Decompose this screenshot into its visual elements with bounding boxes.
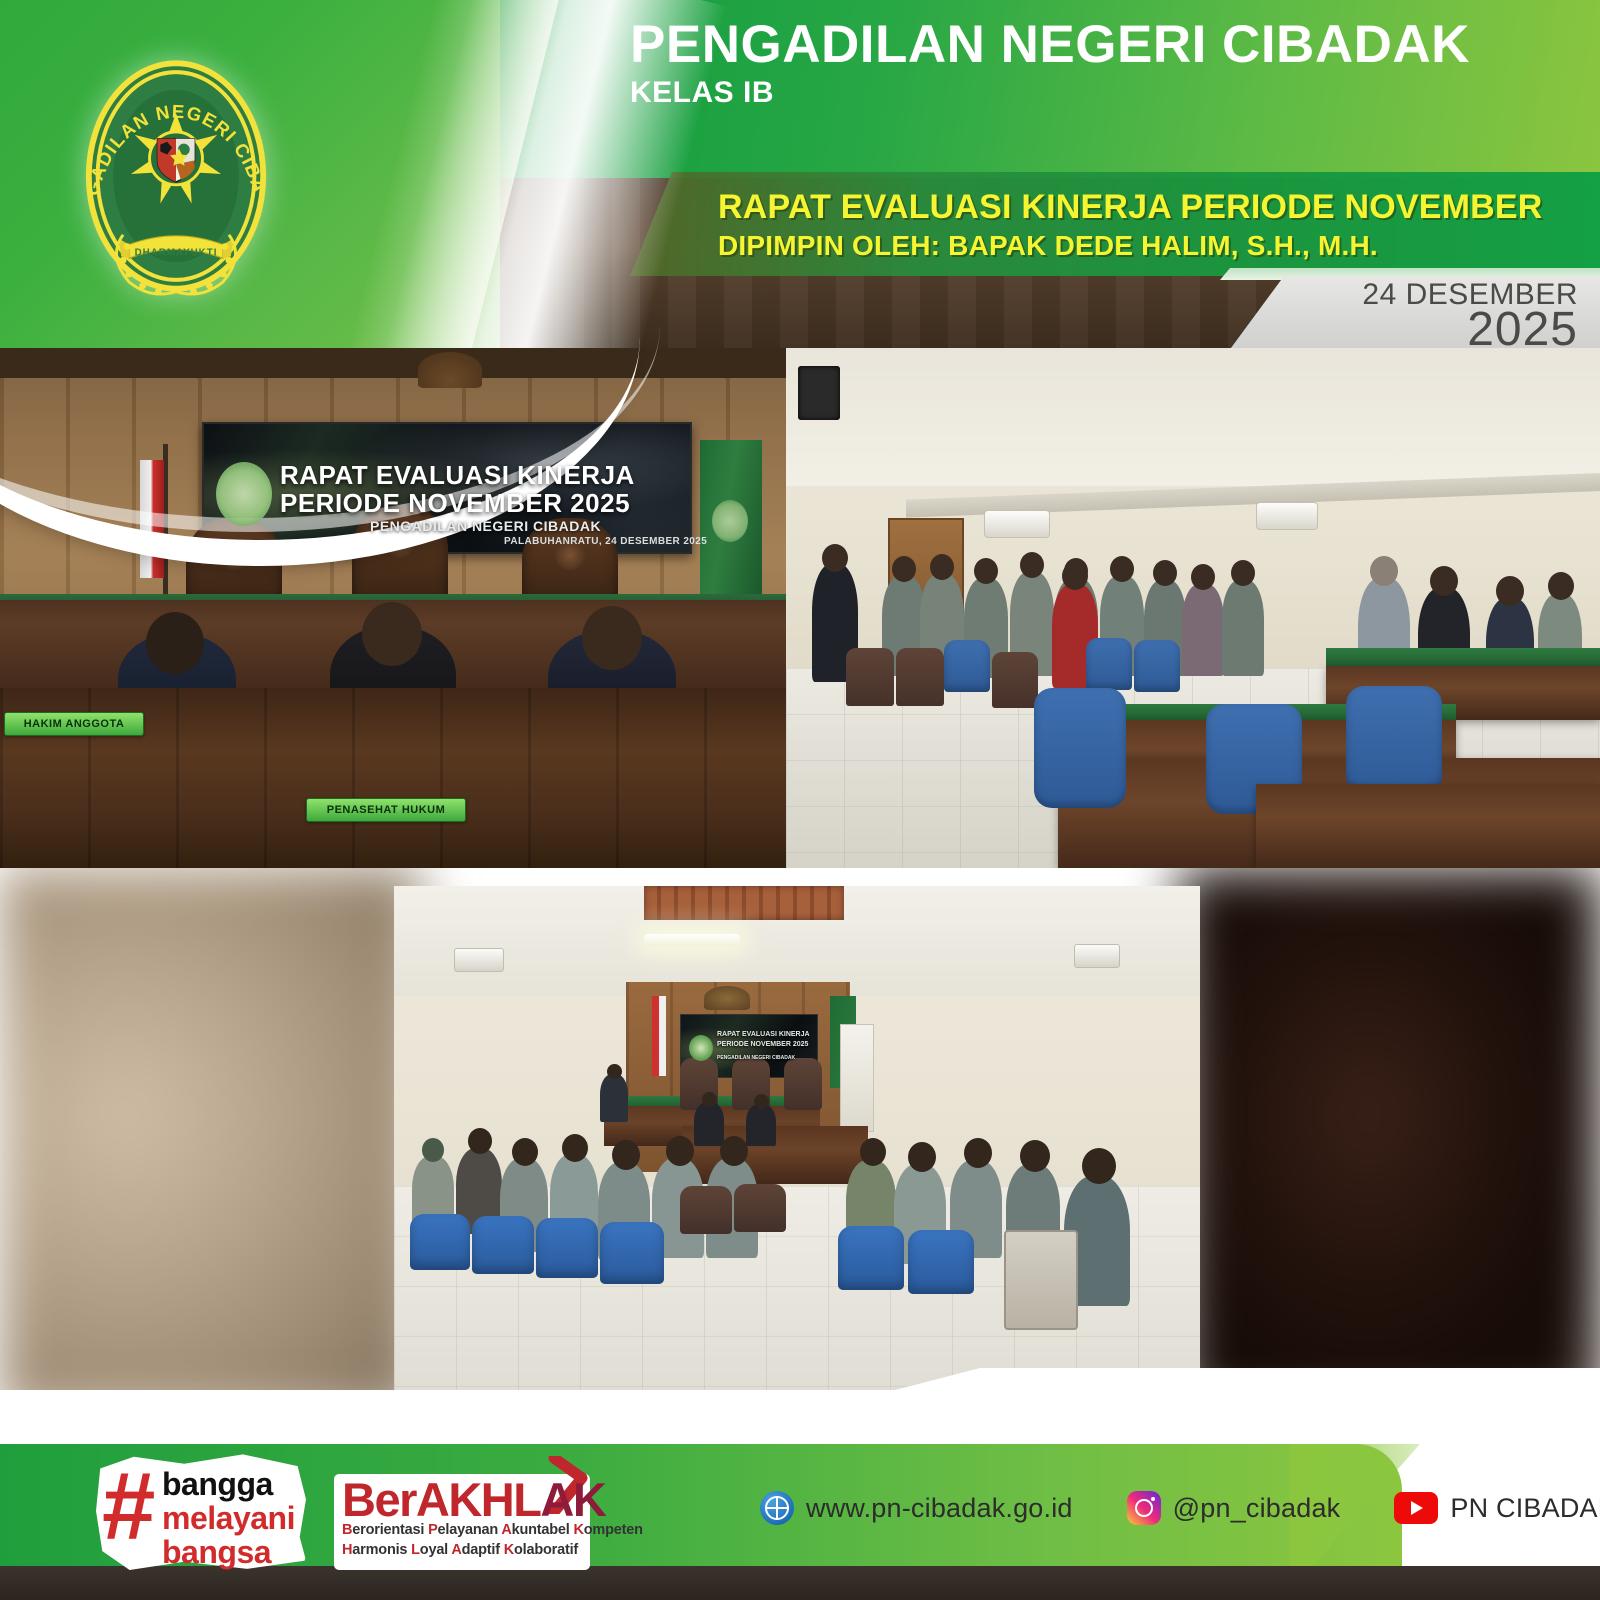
right-photo-ceiling — [786, 348, 1600, 486]
desk-green-felt — [1326, 648, 1600, 668]
contact-instagram[interactable]: @pn_cibadak — [1127, 1491, 1341, 1525]
youtube-icon — [1394, 1492, 1438, 1524]
folding-chair — [1004, 1230, 1078, 1330]
person-head — [1082, 1148, 1116, 1184]
person-head — [1370, 556, 1398, 586]
contact-row: www.pn-cibadak.go.id @pn_cibadak PN CIBA… — [760, 1484, 1600, 1532]
screen-emblem-icon — [216, 462, 272, 526]
indonesia-flag — [652, 996, 666, 1076]
person-head — [974, 558, 998, 584]
person-head — [146, 612, 204, 674]
berakhlak-title-part1: BerAKHL — [342, 1473, 540, 1526]
person-standing — [1222, 580, 1264, 676]
person-seated — [694, 1102, 724, 1146]
chair — [896, 648, 944, 706]
event-title: RAPAT EVALUASI KINERJA PERIODE NOVEMBER — [718, 188, 1543, 227]
person-head — [964, 1138, 992, 1168]
screen-title-line1: RAPAT EVALUASI KINERJA — [717, 1031, 810, 1040]
person-head — [1020, 552, 1044, 578]
chair-blue — [1346, 686, 1442, 794]
person-head — [720, 1136, 748, 1166]
chair — [734, 1184, 786, 1232]
ceiling-light — [644, 934, 740, 946]
berakhlak-title: BerAKHLAK — [342, 1476, 605, 1523]
chair-blue — [536, 1218, 598, 1278]
screen-title-line1: RAPAT EVALUASI KINERJA — [280, 460, 635, 491]
person-head — [1496, 576, 1524, 606]
event-leader: DIPIMPIN OLEH: BAPAK DEDE HALIM, S.H., M… — [718, 230, 1378, 262]
background-blur-right — [1180, 868, 1600, 1416]
air-conditioner — [1074, 944, 1120, 968]
judge-chair — [784, 1058, 822, 1110]
screen-title-line2: PERIODE NOVEMBER 2025 — [717, 1041, 808, 1050]
svg-text:DHARMAYUKTI: DHARMAYUKTI — [135, 247, 218, 258]
person-head — [892, 556, 916, 582]
instagram-text: @pn_cibadak — [1173, 1493, 1341, 1524]
person-head — [422, 1138, 444, 1162]
bangga-melayani-bangsa-logo: # bangga melayani bangsa — [96, 1452, 306, 1570]
air-conditioner — [1256, 502, 1318, 530]
nameplate-hakim-anggota: HAKIM ANGGOTA — [4, 712, 144, 736]
person-head — [702, 1092, 717, 1107]
page-subtitle-class: KELAS IB — [630, 78, 774, 108]
person-head — [1548, 572, 1574, 600]
person-seated — [600, 1074, 628, 1122]
chair-blue — [600, 1222, 664, 1284]
bangga-line2: melayani — [162, 1500, 295, 1537]
youtube-text: PN CIBADAK — [1450, 1493, 1600, 1524]
person-head — [582, 606, 642, 670]
screen-org-name: PENGADILAN NEGERI CIBADAK — [717, 1055, 795, 1061]
contact-youtube[interactable]: PN CIBADAK — [1394, 1492, 1600, 1524]
person-head — [930, 554, 954, 580]
speaker-icon — [798, 366, 840, 420]
poster-root: PENGADILAN NEGERI CIBADAK KELAS IB RAPAT… — [0, 0, 1600, 1600]
garuda-crest-icon — [704, 986, 750, 1010]
bangga-line1: bangga — [162, 1466, 273, 1503]
person-head — [1110, 556, 1134, 582]
person-head — [562, 1134, 588, 1162]
court-emblem-logo: PENGADILAN NEGERI CIBADAK — [78, 52, 274, 300]
chair-blue — [472, 1216, 534, 1274]
berakhlak-subtitle-1: Berorientasi Pelayanan Akuntabel Kompete… — [342, 1522, 643, 1538]
chair-blue — [410, 1214, 470, 1270]
contact-website[interactable]: www.pn-cibadak.go.id — [760, 1491, 1073, 1525]
person-head — [1231, 560, 1255, 586]
person-head — [1191, 564, 1215, 590]
berakhlak-title-part2: AK — [540, 1473, 605, 1526]
background-blur-left — [0, 868, 420, 1416]
screen-title-line2: PERIODE NOVEMBER 2025 — [280, 488, 630, 519]
screen-emblem-icon — [689, 1035, 713, 1061]
chair-blue — [908, 1230, 974, 1294]
person-head — [612, 1140, 640, 1170]
screen-place-date: PALABUHANRATU, 24 DESEMBER 2025 — [504, 536, 707, 547]
chair — [680, 1186, 732, 1234]
person-head — [754, 1094, 769, 1109]
person-head — [362, 602, 422, 666]
person-head — [666, 1136, 694, 1166]
chair — [846, 648, 894, 706]
person-head — [908, 1142, 936, 1172]
standing-ac-unit — [840, 1024, 874, 1132]
person-standing — [1182, 584, 1224, 676]
ventilation-brick — [644, 886, 844, 920]
instagram-icon — [1127, 1491, 1161, 1525]
chair-blue — [1134, 640, 1180, 692]
air-conditioner — [454, 948, 504, 972]
nameplate-penasehat-hukum: PENASEHAT HUKUM — [306, 798, 466, 822]
chair-blue — [838, 1226, 904, 1290]
person-head — [822, 544, 848, 572]
berakhlak-subtitle-2: Harmonis Loyal Adaptif Kolaboratif — [342, 1542, 578, 1558]
chair-blue — [1086, 638, 1132, 690]
bangga-line3: bangsa — [162, 1534, 271, 1571]
person-head — [1430, 566, 1458, 596]
person-head — [512, 1138, 538, 1166]
screen-org-name: PENGADILAN NEGERI CIBADAK — [370, 518, 601, 534]
person-head — [860, 1138, 886, 1166]
globe-icon — [760, 1491, 794, 1525]
website-text: www.pn-cibadak.go.id — [806, 1493, 1073, 1524]
person-head — [1153, 560, 1177, 586]
photo-attendees-standing — [786, 348, 1600, 868]
chair-blue — [944, 640, 990, 692]
berakhlak-logo: BerAKHLAK Berorientasi Pelayanan Akuntab… — [330, 1448, 598, 1572]
person-seated — [746, 1104, 776, 1146]
person-head — [607, 1064, 622, 1079]
chair — [992, 652, 1038, 708]
person-head — [1062, 562, 1088, 590]
desk-front — [1256, 784, 1600, 868]
page-title: PENGADILAN NEGERI CIBADAK — [630, 18, 1470, 71]
chair-blue — [1034, 688, 1126, 808]
person-head — [468, 1128, 492, 1154]
person-head — [1020, 1140, 1050, 1172]
footer-bottom-strip — [0, 1566, 1600, 1600]
air-conditioner — [984, 510, 1050, 538]
photo-courtroom-wide: RAPAT EVALUASI KINERJA PERIODE NOVEMBER … — [394, 886, 1200, 1416]
